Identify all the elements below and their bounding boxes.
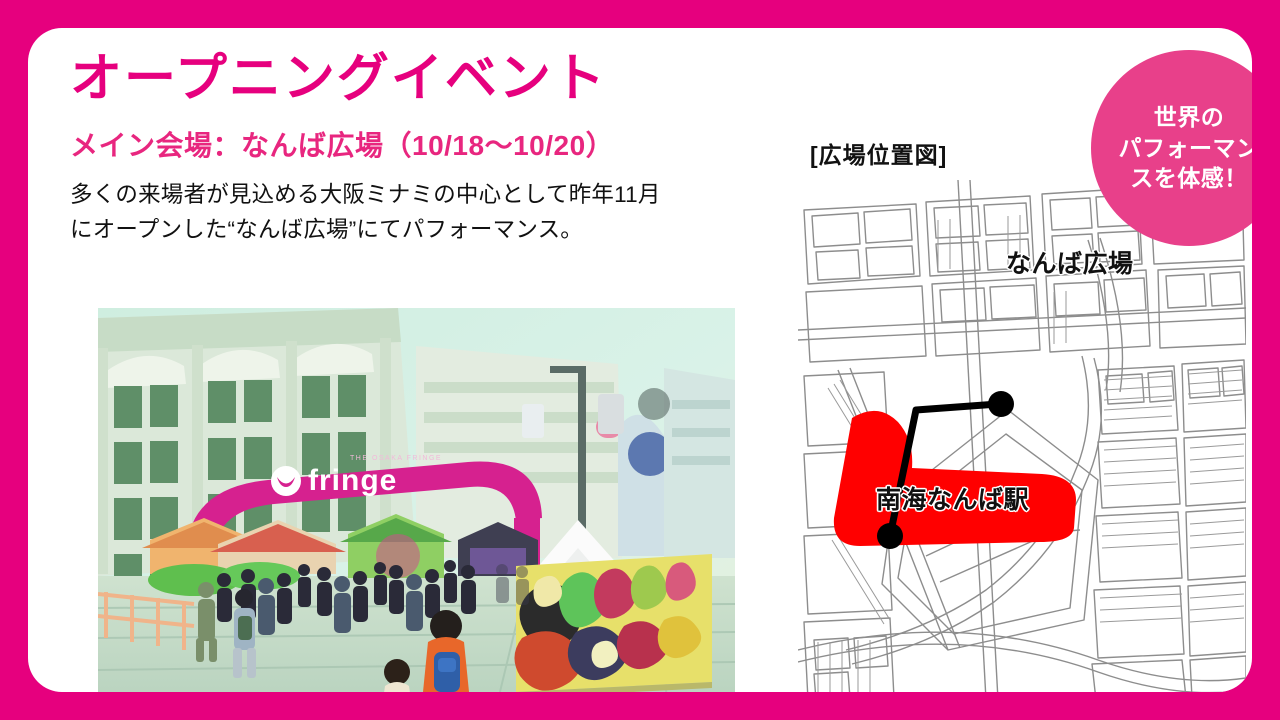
body-paragraph-line-1: 多くの来場者が見込める大阪ミナミの中心として昨年11月 [70, 178, 760, 213]
promo-badge-line-3: スを体感！ [1130, 163, 1248, 193]
body-paragraph: 多くの来場者が見込める大阪ミナミの中心として昨年11月 にオープンした“なんば広… [70, 178, 760, 248]
svg-text:THE OSAKA FRINGE: THE OSAKA FRINGE [350, 455, 442, 462]
slide-root: オープニングイベント メイン会場：なんば広場（10/18〜10/20） 多くの来… [0, 0, 1280, 720]
section-subtitle: メイン会場：なんば広場（10/18〜10/20） [70, 124, 760, 164]
map-caption: [広場位置図] [810, 136, 947, 170]
promo-badge-line-2: パフォーマン [1119, 133, 1253, 163]
body-paragraph-line-2: にオープンした“なんば広場”にてパフォーマンス。 [70, 213, 760, 248]
map-label-namba-hiroba: なんば広場 [1006, 244, 1134, 280]
map-label-nankai-namba-station: 南海なんば駅 [876, 480, 1029, 516]
event-photo: fringe THE OSAKA FRINGE [98, 308, 735, 692]
page-title: オープニングイベント [70, 50, 760, 110]
slide-card: オープニングイベント メイン会場：なんば広場（10/18〜10/20） 多くの来… [28, 28, 1252, 692]
svg-text:fringe: fringe [308, 464, 397, 497]
promo-badge-line-1: 世界の [1154, 102, 1225, 132]
left-content-column: オープニングイベント メイン会場：なんば広場（10/18〜10/20） 多くの来… [70, 50, 760, 248]
event-photo-illustration: fringe THE OSAKA FRINGE [98, 308, 735, 692]
